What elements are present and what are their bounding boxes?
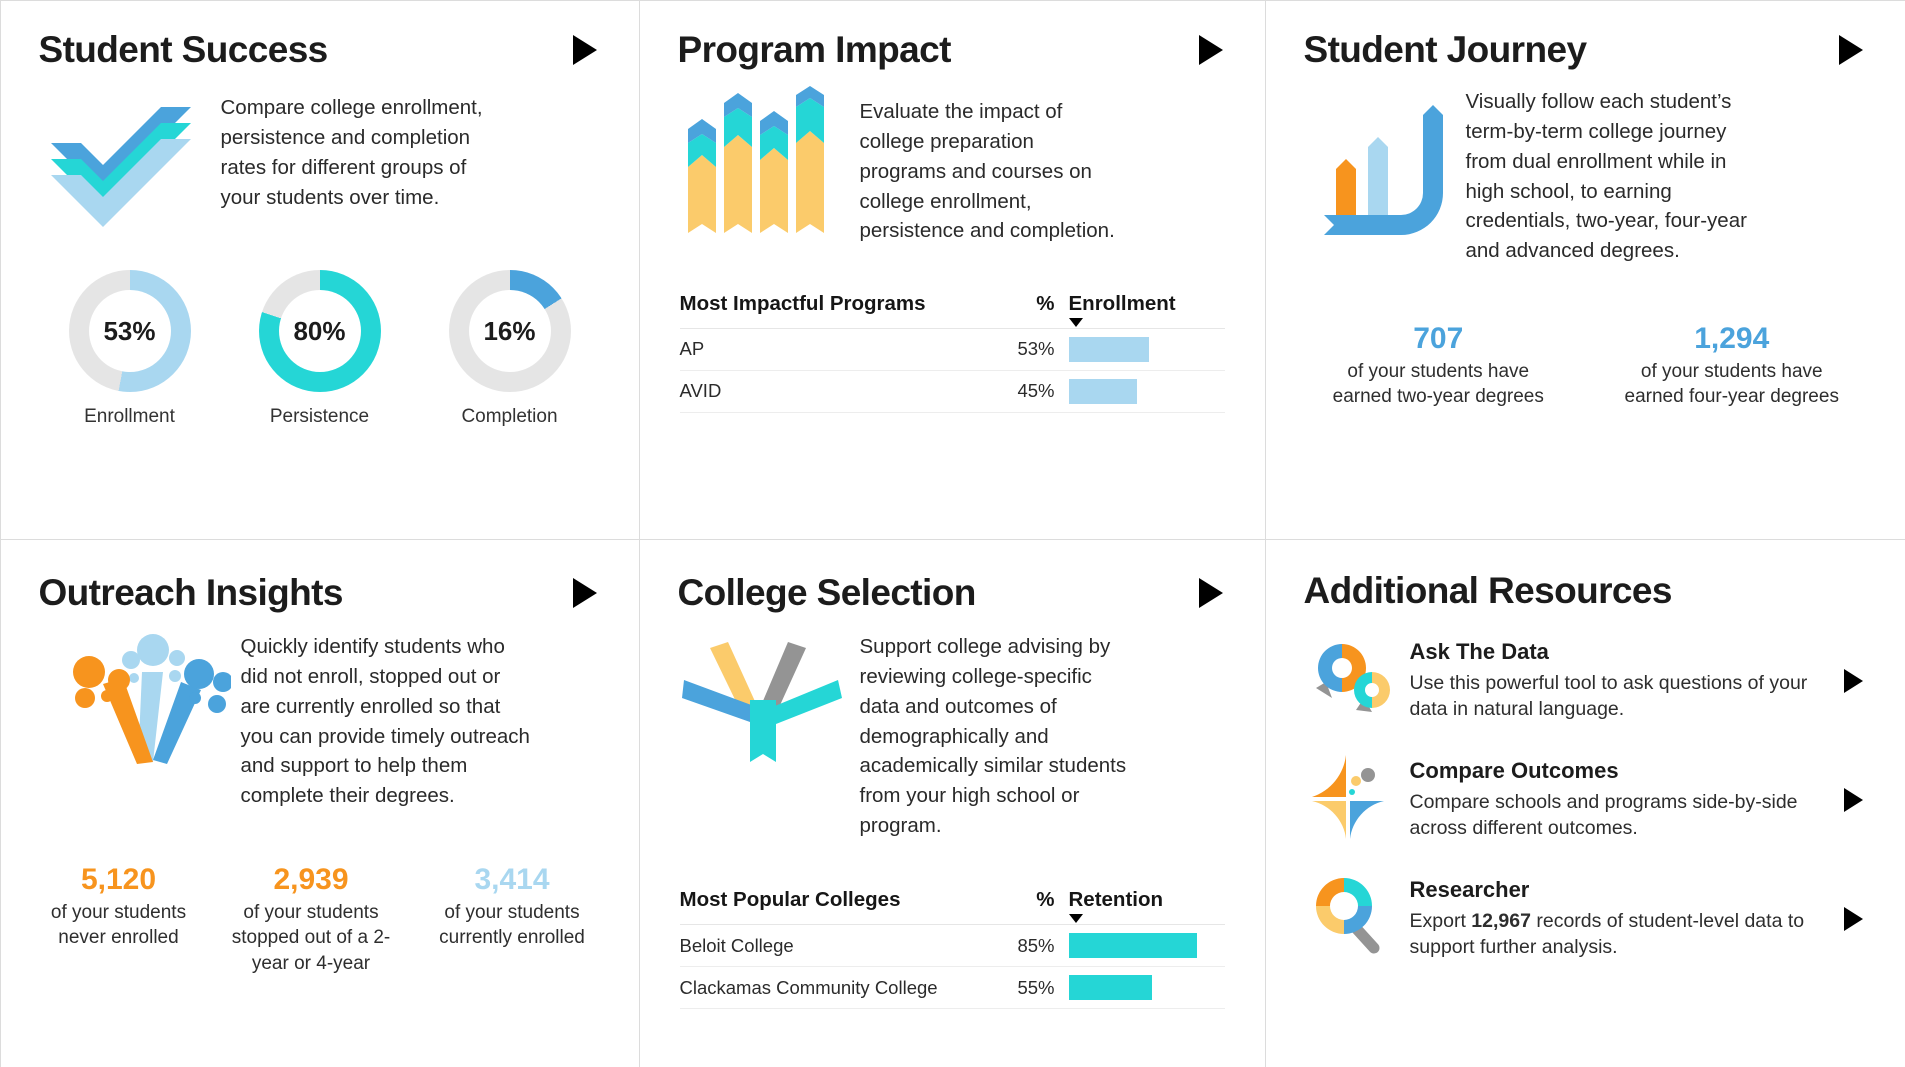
- column-header-percent: %: [1009, 888, 1055, 912]
- college-selection-hero: Support college advising by reviewing co…: [640, 612, 1265, 840]
- program-impact-header: Program Impact: [640, 1, 1265, 70]
- cell-percent: 45%: [1009, 380, 1055, 402]
- column-header-enrollment[interactable]: Enrollment: [1055, 292, 1225, 316]
- stat-label: of your students have earned two-year de…: [1319, 359, 1557, 410]
- additional-resources-header: Additional Resources: [1266, 540, 1905, 611]
- stat-number: 5,120: [35, 863, 203, 896]
- chevron-down-icon-retention[interactable]: [1069, 914, 1083, 923]
- table-header-row: Most Impactful Programs % Enrollment: [680, 292, 1225, 329]
- additional-resources-list: Ask The Data Use this powerful tool to a…: [1266, 610, 1905, 967]
- stat-number: 2,939: [219, 863, 404, 896]
- panel-program-impact[interactable]: Program Impact: [639, 0, 1266, 540]
- researcher-icon: [1304, 870, 1404, 967]
- resource-body: Ask The Data Use this powerful tool to a…: [1404, 639, 1828, 722]
- pathway-fork-icon: [680, 632, 860, 777]
- stat-number: 1,294: [1613, 322, 1851, 355]
- stat-currently-enrolled: 3,414 of your students currently enrolle…: [420, 863, 605, 977]
- panel-college-selection[interactable]: College Selection Support college advisi…: [639, 539, 1266, 1067]
- cell-percent: 55%: [1009, 977, 1055, 999]
- cell-bar: [1055, 337, 1225, 362]
- student-journey-description: Visually follow each student’s term-by-t…: [1466, 87, 1766, 265]
- cell-college-name: Beloit College: [680, 935, 1009, 957]
- student-success-hero: Compare college enrollment, persistence …: [1, 69, 639, 248]
- donut-label-persistence: Persistence: [240, 406, 400, 428]
- stat-number: 707: [1319, 322, 1557, 355]
- table-row[interactable]: AP 53%: [680, 329, 1225, 371]
- donut-label-completion: Completion: [430, 406, 590, 428]
- donut-chart-completion: 16%: [449, 270, 571, 392]
- page-title-outreach-insights: Outreach Insights: [39, 574, 343, 613]
- cell-program-name: AP: [680, 338, 1009, 360]
- panel-student-success[interactable]: Student Success Compare college enrollme…: [0, 0, 640, 540]
- column-header-percent: %: [1009, 292, 1055, 316]
- journey-arrows-icon: [1306, 87, 1466, 242]
- stat-number: 3,414: [420, 863, 605, 896]
- stat-label: of your students stopped out of a 2-year…: [219, 900, 404, 977]
- resource-desc-pre: Export: [1410, 910, 1472, 932]
- column-header-college-name: Most Popular Colleges: [680, 888, 1009, 912]
- cell-bar: [1055, 379, 1225, 404]
- column-header-enrollment-label: Enrollment: [1069, 292, 1176, 315]
- stat-never-enrolled: 5,120 of your students never enrolled: [35, 863, 203, 977]
- donut-value-enrollment: 53%: [103, 316, 155, 347]
- stat-label: of your students have earned four-year d…: [1613, 359, 1851, 410]
- resource-title: Compare Outcomes: [1410, 758, 1828, 784]
- donut-chart-persistence: 80%: [259, 270, 381, 392]
- resource-description: Export 12,967 records of student-level d…: [1410, 908, 1828, 960]
- donut-label-enrollment: Enrollment: [50, 406, 210, 428]
- resource-body: Compare Outcomes Compare schools and pro…: [1404, 758, 1828, 841]
- cell-college-name: Clackamas Community College: [680, 977, 1009, 999]
- table-row[interactable]: Clackamas Community College 55%: [680, 967, 1225, 1009]
- student-success-header: Student Success: [1, 1, 639, 70]
- program-impact-hero: Evaluate the impact of college preparati…: [640, 69, 1265, 246]
- outreach-insights-stats: 5,120 of your students never enrolled 2,…: [1, 863, 639, 977]
- donut-value-persistence: 80%: [293, 316, 345, 347]
- page-title-additional-resources: Additional Resources: [1304, 572, 1672, 611]
- resource-desc-pre: Compare schools and programs side-by-sid…: [1410, 791, 1798, 839]
- resource-item-ask-the-data[interactable]: Ask The Data Use this powerful tool to a…: [1304, 632, 1863, 729]
- most-popular-colleges-table: Most Popular Colleges % Retention Beloit…: [680, 888, 1225, 1009]
- play-arrow-icon-student-success[interactable]: [573, 35, 597, 65]
- play-arrow-icon-program-impact[interactable]: [1199, 35, 1223, 65]
- college-selection-description: Support college advising by reviewing co…: [860, 632, 1132, 840]
- stacked-checkmarks-icon: [41, 93, 221, 248]
- resource-desc-bold: 12,967: [1471, 910, 1531, 932]
- bar-retention: [1069, 975, 1152, 1000]
- resource-body: Researcher Export 12,967 records of stud…: [1404, 877, 1828, 960]
- resource-description: Compare schools and programs side-by-sid…: [1410, 789, 1828, 841]
- play-arrow-icon-student-journey[interactable]: [1839, 35, 1863, 65]
- donut-chart-enrollment: 53%: [69, 270, 191, 392]
- ask-the-data-icon: [1304, 632, 1404, 729]
- dashboard-grid: Student Success Compare college enrollme…: [0, 0, 1905, 1067]
- stat-two-year-degrees: 707 of your students have earned two-yea…: [1319, 322, 1557, 410]
- donut-completion: 16% Completion: [430, 270, 590, 428]
- cell-percent: 53%: [1009, 338, 1055, 360]
- donut-value-completion: 16%: [483, 316, 535, 347]
- table-row[interactable]: Beloit College 85%: [680, 925, 1225, 967]
- donut-persistence: 80% Persistence: [240, 270, 400, 428]
- play-arrow-icon-compare-outcomes[interactable]: [1844, 788, 1863, 812]
- page-title-college-selection: College Selection: [678, 574, 976, 613]
- bar-retention: [1069, 933, 1197, 958]
- resource-item-researcher[interactable]: Researcher Export 12,967 records of stud…: [1304, 870, 1863, 967]
- play-arrow-icon-ask-the-data[interactable]: [1844, 669, 1863, 693]
- donut-enrollment: 53% Enrollment: [50, 270, 210, 428]
- most-impactful-programs-table: Most Impactful Programs % Enrollment AP …: [680, 292, 1225, 413]
- stat-four-year-degrees: 1,294 of your students have earned four-…: [1613, 322, 1851, 410]
- page-title-student-success: Student Success: [39, 31, 328, 70]
- student-journey-header: Student Journey: [1266, 1, 1905, 70]
- student-journey-stats: 707 of your students have earned two-yea…: [1266, 322, 1905, 410]
- column-header-retention-label: Retention: [1069, 888, 1164, 911]
- page-title-student-journey: Student Journey: [1304, 31, 1587, 70]
- student-journey-hero: Visually follow each student’s term-by-t…: [1266, 69, 1905, 265]
- panel-additional-resources: Additional Resources Ask The Data: [1265, 539, 1905, 1067]
- resource-desc-pre: Use this powerful tool to ask questions …: [1410, 672, 1808, 720]
- cell-bar: [1055, 975, 1225, 1000]
- play-arrow-icon-outreach-insights[interactable]: [573, 578, 597, 608]
- student-success-description: Compare college enrollment, persistence …: [221, 93, 501, 212]
- outreach-insights-hero: Quickly identify students who did not en…: [1, 612, 639, 810]
- page-title-program-impact: Program Impact: [678, 31, 951, 70]
- table-header-row: Most Popular Colleges % Retention: [680, 888, 1225, 925]
- stat-stopped-out: 2,939 of your students stopped out of a …: [219, 863, 404, 977]
- chevron-down-icon-enrollment[interactable]: [1069, 318, 1083, 327]
- play-arrow-icon-college-selection[interactable]: [1199, 578, 1223, 608]
- play-arrow-icon-researcher[interactable]: [1844, 907, 1863, 931]
- panel-outreach-insights[interactable]: Outreach Insights: [0, 539, 640, 1067]
- panel-student-journey[interactable]: Student Journey Visually follow each stu…: [1265, 0, 1905, 540]
- student-clusters-icon: [41, 632, 241, 782]
- column-header-retention[interactable]: Retention: [1055, 888, 1225, 912]
- stat-label: of your students currently enrolled: [420, 900, 605, 951]
- compare-outcomes-icon: [1304, 751, 1404, 848]
- bar-enrollment: [1069, 337, 1149, 362]
- resource-item-compare-outcomes[interactable]: Compare Outcomes Compare schools and pro…: [1304, 751, 1863, 848]
- stat-label: of your students never enrolled: [35, 900, 203, 951]
- bar-enrollment: [1069, 379, 1137, 404]
- outreach-insights-header: Outreach Insights: [1, 540, 639, 613]
- resource-title: Researcher: [1410, 877, 1828, 903]
- table-row[interactable]: AVID 45%: [680, 371, 1225, 413]
- cell-program-name: AVID: [680, 380, 1009, 402]
- cell-bar: [1055, 933, 1225, 958]
- column-header-program-name: Most Impactful Programs: [680, 292, 1009, 316]
- outreach-insights-description: Quickly identify students who did not en…: [241, 632, 536, 810]
- student-success-donuts: 53% Enrollment 80% Persistence 16% Compl…: [1, 248, 639, 428]
- program-impact-description: Evaluate the impact of college preparati…: [860, 85, 1126, 246]
- bar-chart-ribbons-icon: [680, 85, 860, 240]
- college-selection-header: College Selection: [640, 540, 1265, 613]
- cell-percent: 85%: [1009, 935, 1055, 957]
- resource-title: Ask The Data: [1410, 639, 1828, 665]
- resource-description: Use this powerful tool to ask questions …: [1410, 670, 1828, 722]
